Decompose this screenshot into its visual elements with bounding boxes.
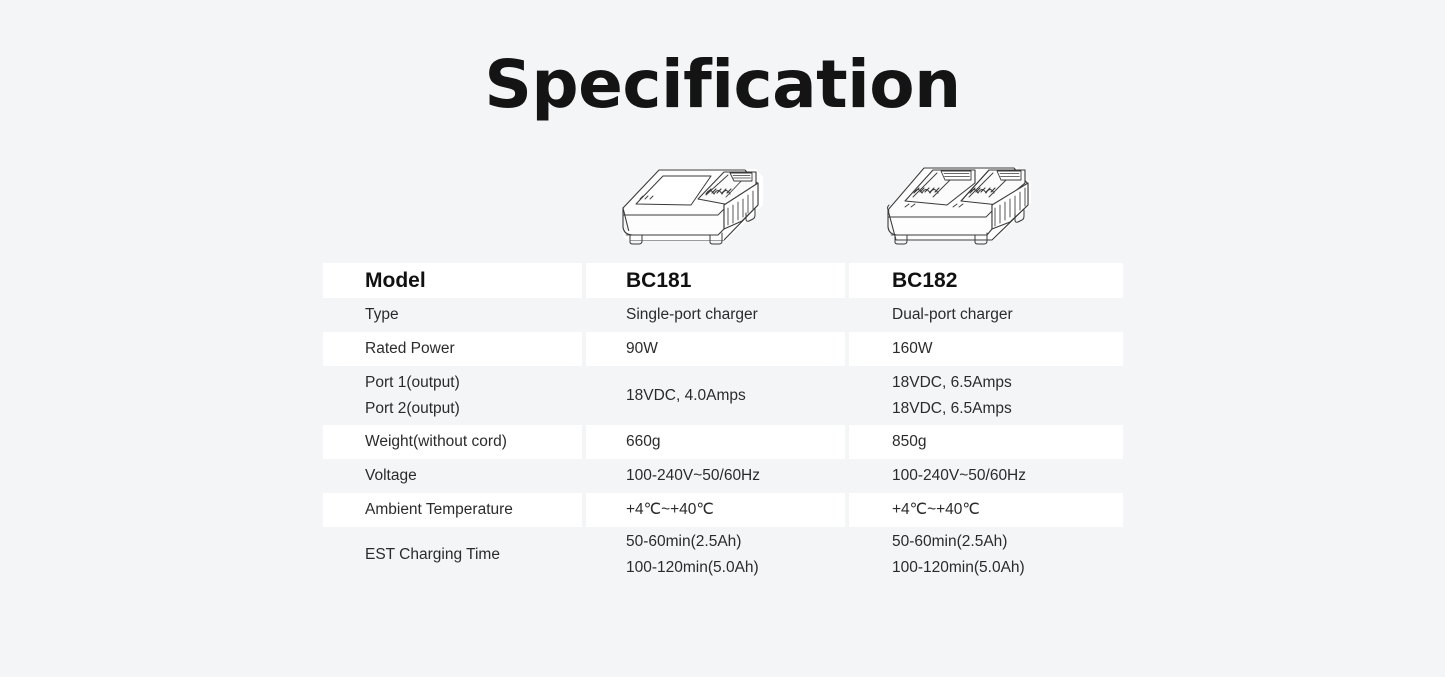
row-value-line: 660g [626,429,845,455]
row-label-line: Port 1(output) [365,370,582,396]
row-value-line: 100-120min(5.0Ah) [626,555,845,581]
row-value-bc181: 50-60min(2.5Ah) 100-120min(5.0Ah) [586,527,845,582]
row-value-line: Dual-port charger [892,302,1123,328]
row-label-line: Voltage [365,463,582,489]
row-value-bc181: 100-240V~50/60Hz [586,459,845,493]
row-value-line: 100-240V~50/60Hz [892,463,1123,489]
row-label-line: Weight(without cord) [365,429,582,455]
row-label: Port 1(output) Port 2(output) [323,366,582,425]
table-row: Port 1(output) Port 2(output) 18VDC, 4.0… [323,366,1123,425]
row-value-bc182: 850g [849,425,1123,459]
row-value-line: 18VDC, 6.5Amps [892,396,1123,422]
table-header-row: Model BC181 BC182 [323,263,1123,298]
row-value-line: 100-120min(5.0Ah) [892,555,1123,581]
header-label-bc182: BC182 [892,268,1123,294]
row-value-line: 50-60min(2.5Ah) [892,529,1123,555]
row-label: Rated Power [323,332,582,366]
row-label-line: Ambient Temperature [365,497,582,523]
row-label: EST Charging Time [323,527,582,582]
table-row: Type Single-port charger Dual-port charg… [323,298,1123,332]
row-label: Weight(without cord) [323,425,582,459]
row-value-line: +4℃~+40℃ [892,497,1123,523]
row-label-line: Type [365,302,582,328]
table-row: Rated Power 90W 160W [323,332,1123,366]
row-value-line: 100-240V~50/60Hz [626,463,845,489]
header-cell-bc182: BC182 [849,263,1123,298]
row-value-line: 50-60min(2.5Ah) [626,529,845,555]
row-value-bc181: +4℃~+40℃ [586,493,845,527]
row-value-bc182: +4℃~+40℃ [849,493,1123,527]
table-row: Voltage 100-240V~50/60Hz 100-240V~50/60H… [323,459,1123,493]
row-label: Ambient Temperature [323,493,582,527]
row-value-bc182: 50-60min(2.5Ah) 100-120min(5.0Ah) [849,527,1123,582]
row-value-line: 18VDC, 4.0Amps [626,383,845,409]
specification-page: Specification [0,0,1445,677]
row-label-line: Rated Power [365,336,582,362]
row-value-line: 18VDC, 6.5Amps [892,370,1123,396]
row-value-bc182: 100-240V~50/60Hz [849,459,1123,493]
row-value-bc182: 160W [849,332,1123,366]
header-label-model: Model [365,268,582,294]
row-value-line: +4℃~+40℃ [626,497,845,523]
row-label: Voltage [323,459,582,493]
table-row: Ambient Temperature +4℃~+40℃ +4℃~+40℃ [323,493,1123,527]
header-cell-model: Model [323,263,582,298]
row-value-bc181: 18VDC, 4.0Amps [586,366,845,425]
row-value-bc181: 90W [586,332,845,366]
single-port-charger-illustration [606,143,781,255]
row-label: Type [323,298,582,332]
row-value-line: 90W [626,336,845,362]
page-title: Specification [0,46,1445,124]
specification-table: Model BC181 BC182 Type Single-port charg… [323,263,1123,582]
row-label-line: EST Charging Time [365,542,582,568]
header-label-bc181: BC181 [626,268,845,294]
row-value-bc181: Single-port charger [586,298,845,332]
row-label-line: Port 2(output) [365,396,582,422]
product-image-row [323,143,1123,255]
row-value-bc181: 660g [586,425,845,459]
table-row: EST Charging Time 50-60min(2.5Ah) 100-12… [323,527,1123,582]
row-value-line: Single-port charger [626,302,845,328]
row-value-bc182: 18VDC, 6.5Amps 18VDC, 6.5Amps [849,366,1123,425]
table-row: Weight(without cord) 660g 850g [323,425,1123,459]
row-value-bc182: Dual-port charger [849,298,1123,332]
header-cell-bc181: BC181 [586,263,845,298]
dual-port-charger-illustration [875,143,1050,255]
row-value-line: 850g [892,429,1123,455]
row-value-line: 160W [892,336,1123,362]
